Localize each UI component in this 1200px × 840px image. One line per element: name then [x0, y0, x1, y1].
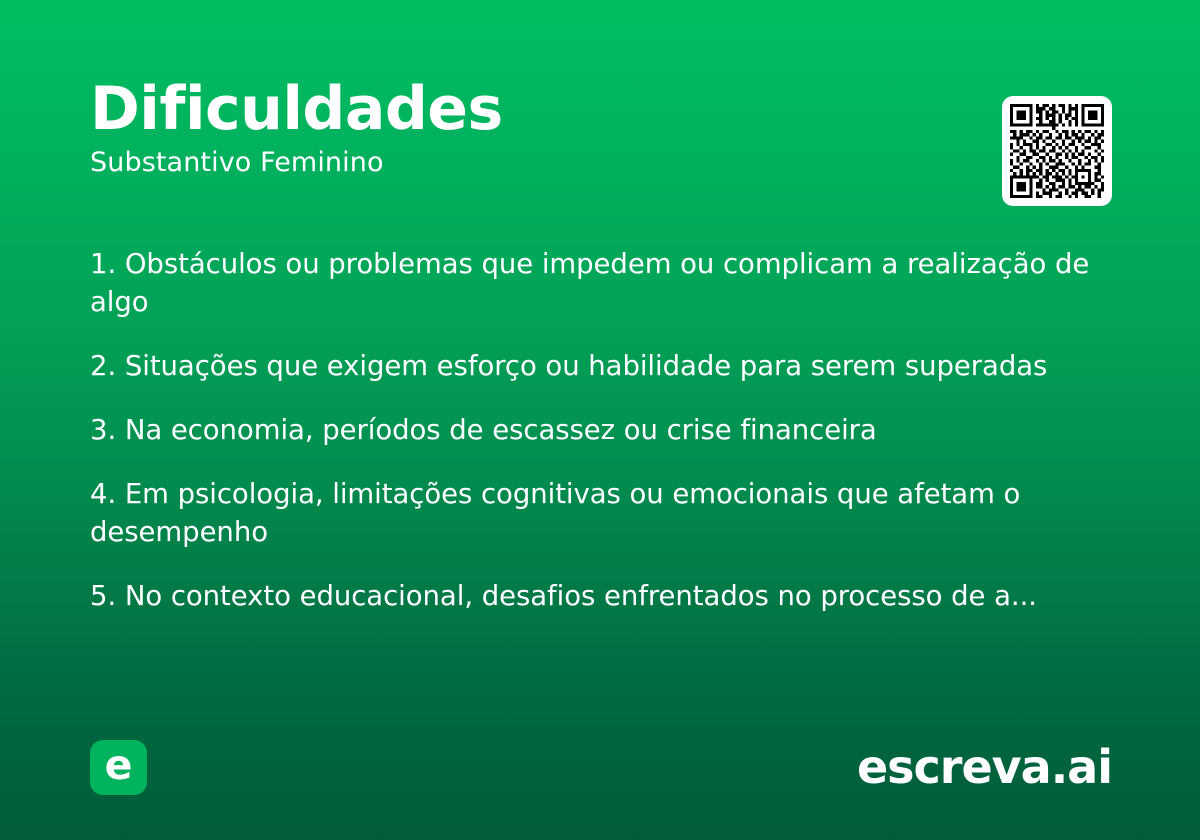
word-class-label: Substantivo Feminino: [90, 147, 970, 179]
qr-code-panel[interactable]: [1002, 96, 1112, 206]
qr-code-icon: [1010, 104, 1104, 198]
definition-item: 1. Obstáculos ou problemas que impedem o…: [90, 245, 1112, 321]
word-title: Dificuldades: [90, 78, 970, 141]
definitions-list: 1. Obstáculos ou problemas que impedem o…: [90, 245, 1112, 615]
definition-item: 3. Na economia, períodos de escassez ou …: [90, 411, 1112, 449]
logo-letter: e: [105, 745, 133, 786]
card-header: Dificuldades Substantivo Feminino: [90, 78, 970, 179]
definition-item: 5. No contexto educacional, desafios enf…: [90, 577, 1112, 615]
brand-wordmark: escreva.ai: [857, 744, 1112, 790]
definition-card: Dificuldades Substantivo Feminino: [0, 0, 1200, 840]
card-footer: e escreva.ai: [90, 738, 1112, 796]
definition-item: 4. Em psicologia, limitações cognitivas …: [90, 475, 1112, 551]
escreva-logo-icon: e: [90, 740, 147, 795]
definition-item: 2. Situações que exigem esforço ou habil…: [90, 347, 1112, 385]
